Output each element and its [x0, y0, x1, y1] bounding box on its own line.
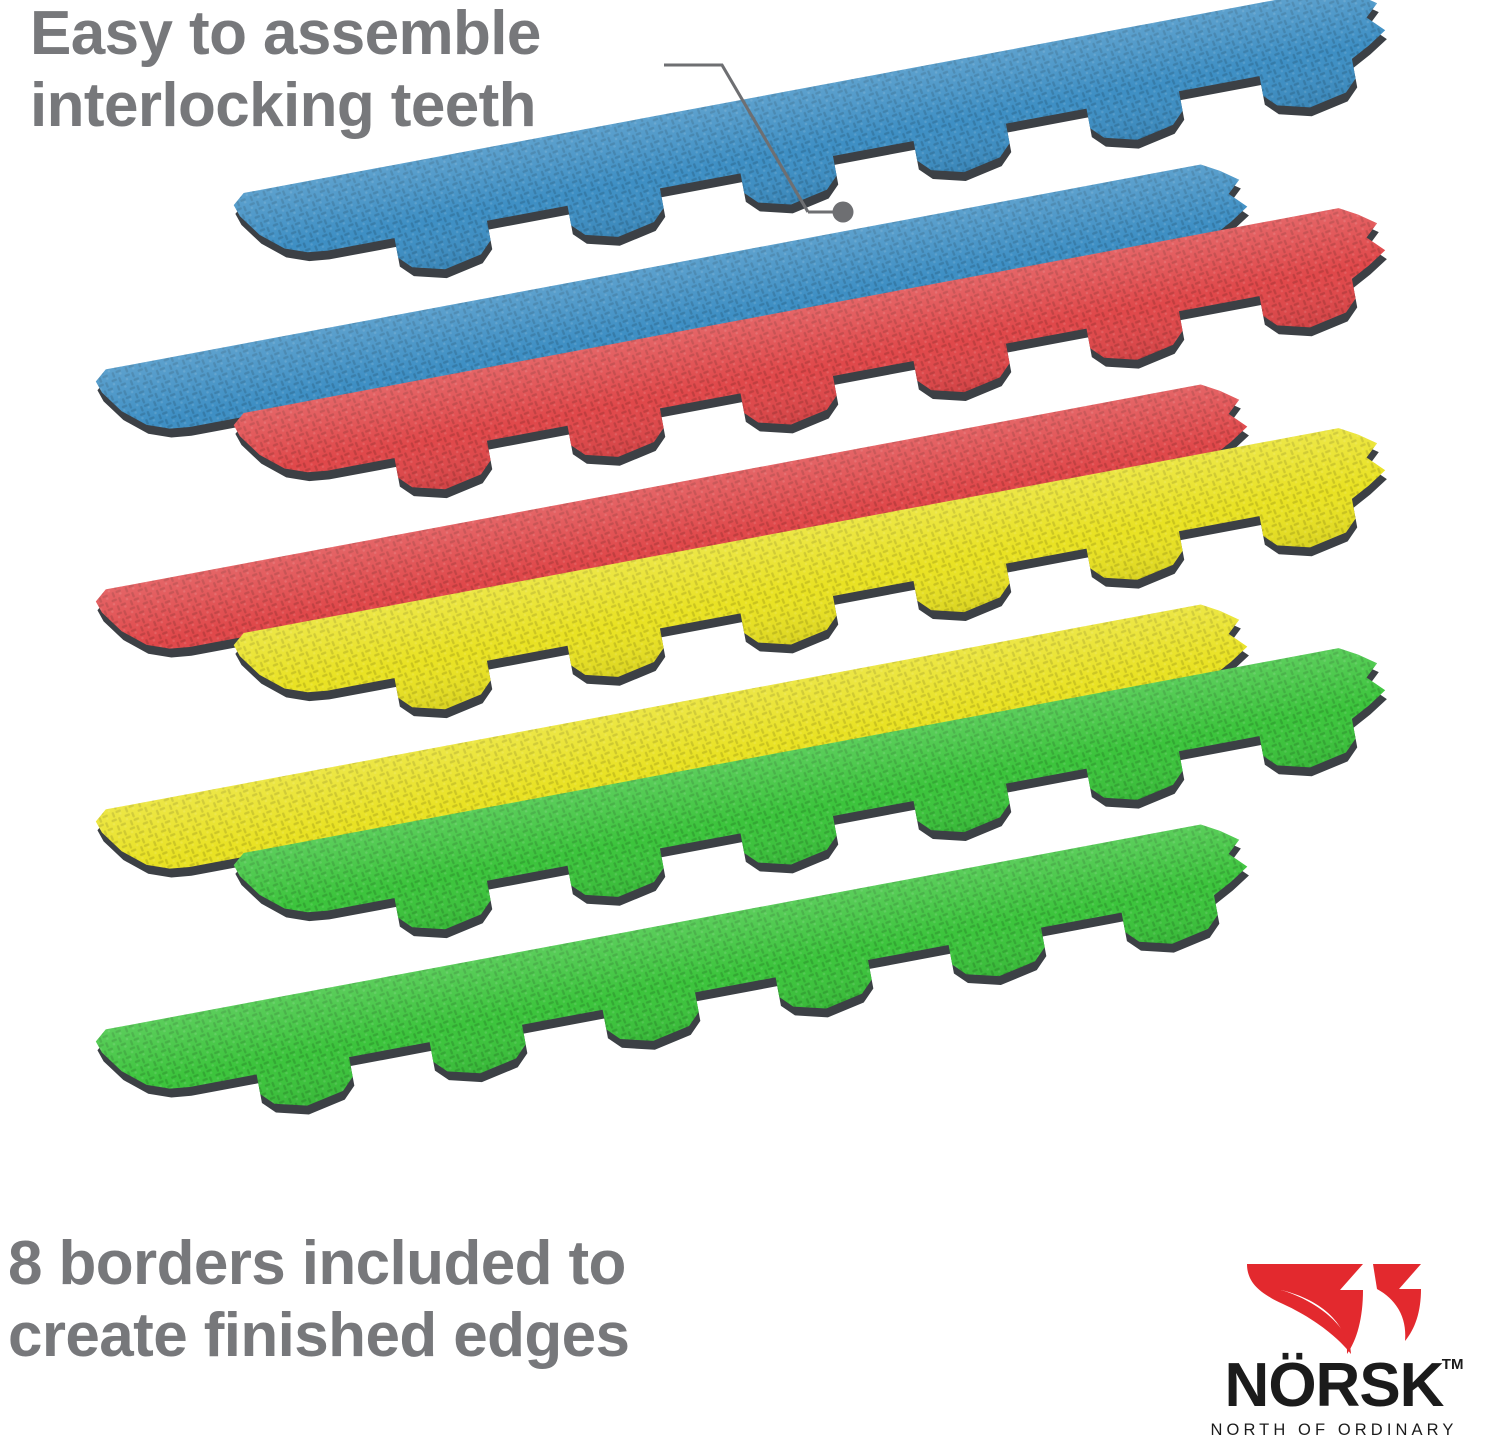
swoosh-small-body	[1377, 1289, 1421, 1341]
product-infographic: Easy to assemble interlocking teeth 8 bo…	[0, 0, 1500, 1448]
green-border-mat	[67, 641, 1426, 1150]
norsk-logo: NÖRSK TM NORTH OF ORDINARY	[1184, 1258, 1484, 1440]
norsk-tagline: NORTH OF ORDINARY	[1184, 1421, 1484, 1440]
norsk-wordmark: NÖRSK TM	[1225, 1356, 1444, 1416]
trademark-symbol: TM	[1442, 1358, 1464, 1372]
norsk-swoosh-icon	[1245, 1258, 1423, 1354]
page-title-top: Easy to assemble interlocking teeth	[30, 0, 730, 142]
swoosh-small	[1373, 1264, 1421, 1289]
yellow-border-mat	[67, 421, 1426, 930]
norsk-wordmark-text: NÖRSK	[1225, 1351, 1444, 1420]
page-title-bottom: 8 borders included to create finished ed…	[8, 1228, 768, 1372]
red-border-mat	[67, 201, 1426, 710]
